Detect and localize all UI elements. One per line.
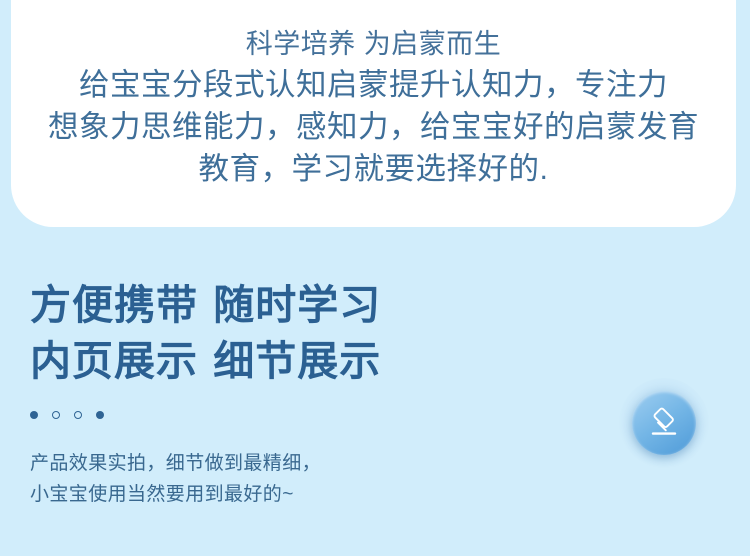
pagination-dot-3[interactable]: [74, 411, 82, 419]
pagination-dot-2[interactable]: [52, 411, 60, 419]
headline-line-1: 方便携带 随时学习: [30, 277, 381, 333]
product-detail-page: 科学培养 为启蒙而生 给宝宝分段式认知启蒙提升认知力，专注力 想象力思维能力，感…: [0, 0, 750, 556]
caption-line-1: 产品效果实拍，细节做到最精细，: [30, 448, 321, 479]
badge-circle[interactable]: [632, 391, 696, 455]
caption-block: 产品效果实拍，细节做到最精细， 小宝宝使用当然要用到最好的~: [30, 448, 321, 510]
caption-line-2: 小宝宝使用当然要用到最好的~: [30, 479, 321, 510]
hero-line-1: 科学培养 为启蒙而生: [246, 24, 502, 64]
hero-card: 科学培养 为启蒙而生 给宝宝分段式认知启蒙提升认知力，专注力 想象力思维能力，感…: [11, 0, 736, 227]
hero-line-2: 给宝宝分段式认知启蒙提升认知力，专注力: [79, 64, 668, 106]
hero-line-4: 教育，学习就要选择好的.: [199, 148, 549, 190]
eraser-icon: [645, 404, 683, 442]
pagination-dot-4[interactable]: [96, 411, 104, 419]
pagination-dots[interactable]: [30, 411, 104, 419]
hero-line-3: 想象力思维能力，感知力，给宝宝好的启蒙发育: [48, 106, 699, 148]
pagination-dot-1[interactable]: [30, 411, 38, 419]
eraser-badge[interactable]: [619, 378, 709, 468]
headline-block: 方便携带 随时学习 内页展示 细节展示: [30, 277, 381, 389]
headline-line-2: 内页展示 细节展示: [30, 333, 381, 389]
